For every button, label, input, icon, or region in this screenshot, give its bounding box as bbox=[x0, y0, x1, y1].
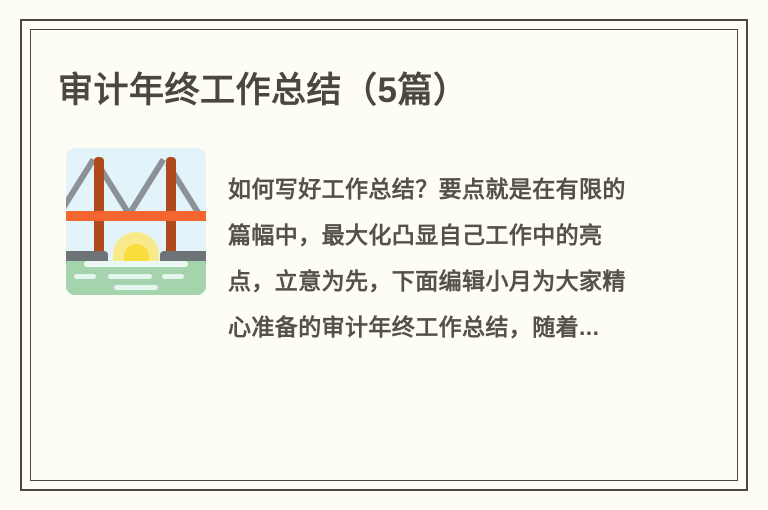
suspension-bridge-sunset-illustration bbox=[66, 148, 206, 295]
article-card-page: 审计年终工作总结（5篇） 如何写好工作总结？要点就是在有限的篇幅中，最大化凸显自… bbox=[0, 0, 768, 510]
water-wave-3 bbox=[162, 274, 184, 279]
bridge-deck bbox=[66, 211, 206, 221]
water-wave-1 bbox=[74, 274, 96, 279]
article-excerpt: 如何写好工作总结？要点就是在有限的篇幅中，最大化凸显自己工作中的亮点，立意为先，… bbox=[228, 166, 648, 350]
water-wave-2 bbox=[108, 274, 152, 279]
water-highlight-band bbox=[84, 261, 188, 267]
page-title: 审计年终工作总结（5篇） bbox=[58, 62, 698, 113]
water-wave-4 bbox=[114, 285, 158, 290]
